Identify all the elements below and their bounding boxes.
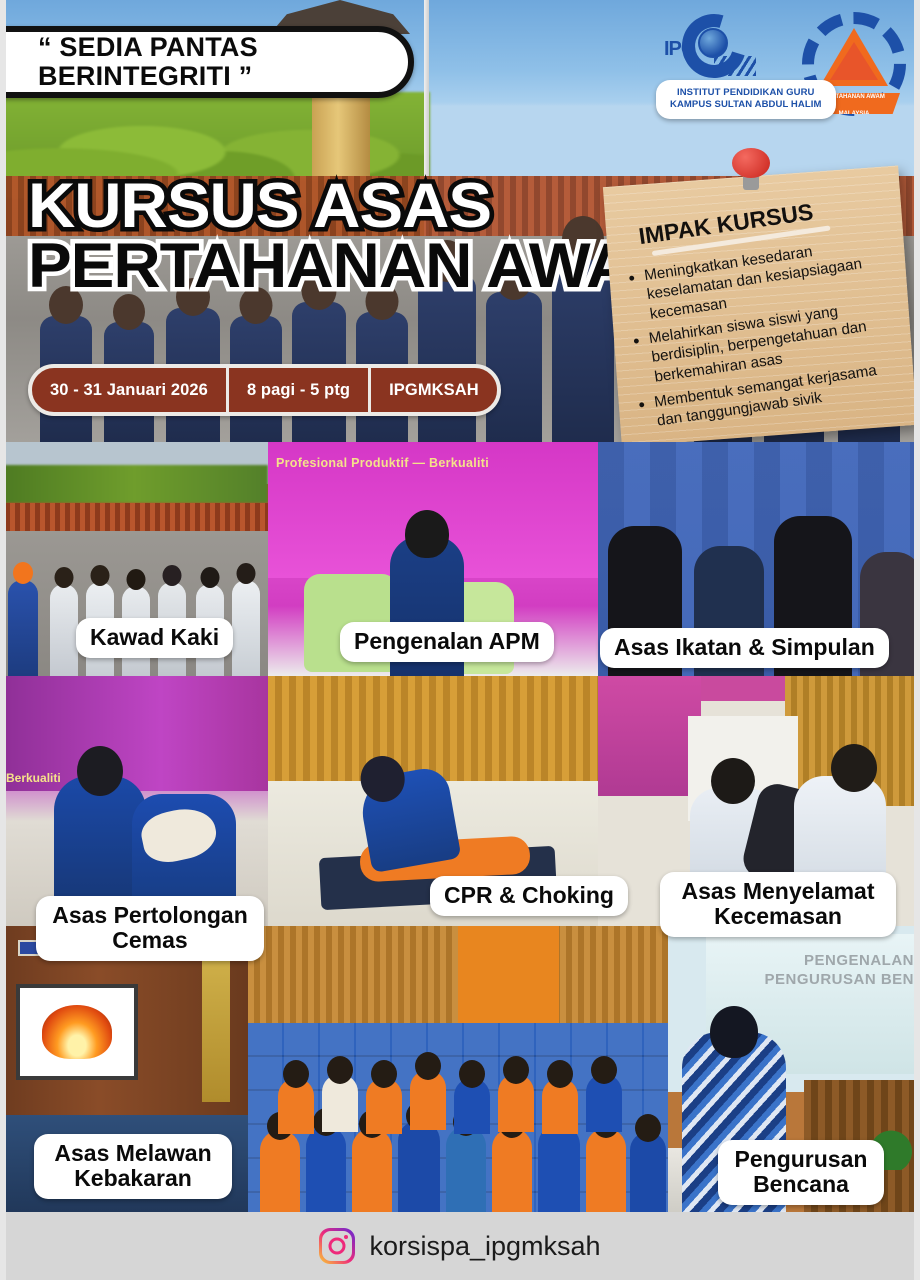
speaker-head [710, 1006, 758, 1058]
caption-melawan-kebakaran: Asas Melawan Kebakaran [34, 1134, 232, 1199]
participant-figure [278, 1078, 314, 1134]
photo-walkway-roof [0, 503, 268, 533]
ipg-monogram: IPG [664, 38, 695, 61]
participant-head [503, 1056, 529, 1084]
student-head [831, 744, 877, 792]
caption-pengenalan-apm: Pengenalan APM [340, 622, 554, 662]
footer-social-bar: korsispa_ipgmksah [0, 1212, 920, 1280]
slogan-text: “ SEDIA PANTAS BERINTEGRITI ” [38, 33, 258, 91]
participant-figure [322, 1074, 358, 1132]
projection-screen [16, 984, 138, 1080]
participant-figure [586, 1074, 622, 1132]
cadet-head [201, 567, 220, 588]
ipg-logo-icon: IPG INSTITUT PENDIDIKAN GURU KAMPUS SULT… [656, 12, 788, 80]
participant-figure [446, 1126, 486, 1212]
participant-head [459, 1060, 485, 1088]
participant-head [415, 1052, 441, 1080]
instagram-handle[interactable]: korsispa_ipgmksah [369, 1231, 600, 1262]
instructor-head [77, 746, 123, 796]
poster-canvas: “ SEDIA PANTAS BERINTEGRITI ” IPG INSTIT… [0, 0, 920, 1280]
slide-title-line-2: PENGURUSAN BEN [706, 971, 914, 990]
cadet-figure [232, 580, 260, 676]
info-time: 8 pagi - 5 ptg [226, 368, 368, 412]
participant-figure [306, 1126, 346, 1212]
participant-head [283, 1060, 309, 1088]
ipg-stripes [714, 56, 756, 76]
slide-title-text: PENGENALAN PENGURUSAN BEN [706, 952, 914, 990]
participant-figure [398, 1120, 440, 1212]
info-date: 30 - 31 Januari 2026 [32, 368, 226, 412]
apm-officer-head [405, 510, 449, 558]
title-line-2: PERTAHANAN AWAM [28, 238, 686, 296]
hanging-banner [202, 952, 230, 1102]
stage-orange-panel [458, 926, 559, 1023]
instagram-dot [344, 1235, 348, 1239]
cadet-head [13, 562, 33, 584]
info-venue: IPGMKSAH [368, 368, 497, 412]
participant-figure [542, 1078, 578, 1134]
participant-head [591, 1056, 617, 1084]
hero-photo-parade: “ SEDIA PANTAS BERINTEGRITI ” IPG INSTIT… [0, 0, 920, 442]
sticky-note-impak-kursus: IMPAK KURSUS Meningkatkan kesedaran kese… [603, 166, 917, 442]
photo-asas-pertolongan-cemas: Berkualiti [0, 676, 268, 926]
participant-figure [630, 1132, 666, 1212]
event-info-bar: 30 - 31 Januari 2026 8 pagi - 5 ptg IPGM… [28, 364, 501, 416]
photo-treeline [0, 465, 268, 502]
slogan-banner: “ SEDIA PANTAS BERINTEGRITI ” [0, 26, 414, 98]
slide-title-line-1: PENGENALAN [706, 952, 914, 971]
participant-head [371, 1060, 397, 1088]
cadet-figure [50, 584, 78, 676]
caption-pertolongan-cemas: Asas Pertolongan Cemas [36, 896, 264, 961]
slogan-line-2: BERINTEGRITI ” [38, 62, 258, 91]
student-head [711, 758, 755, 804]
participant-figure [586, 1128, 626, 1212]
student-figure [486, 292, 542, 442]
pushpin-head [732, 148, 770, 178]
cadet-head [55, 567, 74, 588]
logo-group: IPG INSTITUT PENDIDIKAN GURU KAMPUS SULT… [656, 12, 906, 116]
cadet-head [237, 563, 256, 584]
ipg-logo-mark: IPG [656, 12, 788, 80]
ipg-logo-caption: INSTITUT PENDIDIKAN GURU KAMPUS SULTAN A… [656, 80, 836, 119]
cadet-head [163, 565, 182, 586]
cpr-demonstrator-figure [357, 765, 462, 873]
cadet-figure [8, 580, 38, 676]
pink-backdrop [598, 676, 701, 796]
participant-head [635, 1114, 661, 1142]
fire-image [42, 1005, 112, 1059]
ipg-caption-line-2: KAMPUS SULTAN ABDUL HALIM [670, 99, 822, 111]
backdrop-word-berkualiti: Berkualiti [6, 771, 61, 785]
caption-cpr-choking: CPR & Choking [430, 876, 628, 916]
participant-figure [454, 1078, 490, 1134]
caption-kawad-kaki: Kawad Kaki [76, 618, 233, 658]
participant-head [547, 1060, 573, 1088]
ipg-caption-line-1: INSTITUT PENDIDIKAN GURU [670, 87, 822, 99]
cadet-head [91, 565, 110, 586]
participant-figure [410, 1070, 446, 1130]
participant-figure [538, 1124, 580, 1212]
participant-head [327, 1056, 353, 1084]
globe-icon [698, 28, 728, 58]
banner-slogan-text: Profesional Produktif — Berkualiti [276, 456, 598, 470]
participant-figure [352, 1128, 392, 1212]
instagram-icon[interactable] [319, 1228, 355, 1264]
participant-figure [366, 1078, 402, 1134]
photo-group-participants [248, 926, 668, 1212]
participant-figure [498, 1074, 534, 1132]
caption-pengurusan-bencana: Pengurusan Bencana [718, 1140, 884, 1205]
participant-figure [260, 1130, 300, 1212]
cadet-head [127, 569, 146, 590]
caption-menyelamat: Asas Menyelamat Kecemasan [660, 872, 896, 937]
title-line-1: KURSUS ASAS [28, 178, 686, 236]
caption-asas-ikatan: Asas Ikatan & Simpulan [600, 628, 889, 668]
page-title: KURSUS ASAS PERTAHANAN AWAM [28, 178, 660, 296]
slogan-line-1: “ SEDIA PANTAS [38, 33, 258, 62]
pushpin-icon [728, 148, 774, 202]
group-photo-rows [248, 1052, 668, 1212]
instagram-lens [329, 1238, 346, 1255]
sticky-note-bullet-list: Meningkatkan kesedaran keselamatan dan k… [626, 240, 899, 424]
participant-figure [492, 1128, 532, 1212]
